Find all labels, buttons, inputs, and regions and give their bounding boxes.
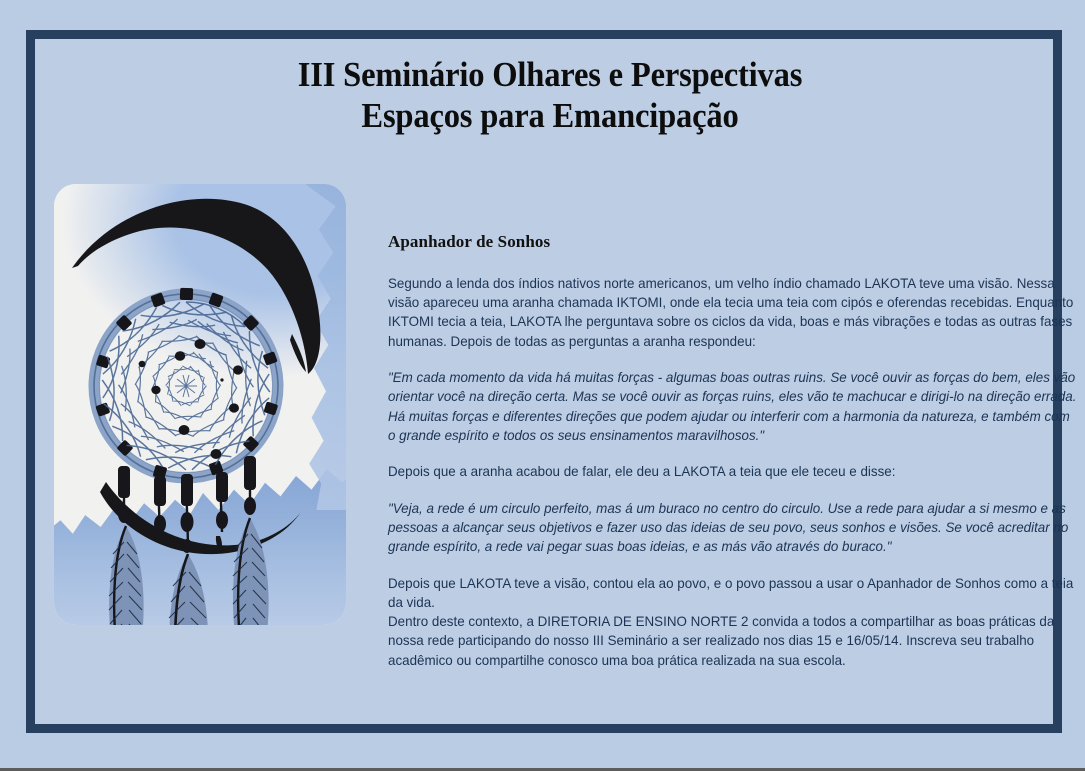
page-title: III Seminário Olhares e Perspectivas Esp…: [104, 54, 997, 136]
article-paragraph-6: Dentro deste contexto, a DIRETORIA DE EN…: [388, 612, 1078, 670]
poster-frame: III Seminário Olhares e Perspectivas Esp…: [26, 30, 1062, 733]
article-paragraph-3: Depois que a aranha acabou de falar, ele…: [388, 462, 1078, 481]
feather-right: [232, 518, 269, 625]
poster-canvas: III Seminário Olhares e Perspectivas Esp…: [0, 0, 1085, 771]
article-body: Apanhador de Sonhos Segundo a lenda dos …: [388, 232, 1085, 687]
article-paragraph-5: Depois que LAKOTA teve a visão, contou e…: [388, 574, 1078, 612]
article-paragraph-2-quote: "Em cada momento da vida há muitas força…: [388, 368, 1078, 446]
dreamcatcher-image-panel: [54, 184, 346, 625]
title-line-1: III Seminário Olhares e Perspectivas: [104, 54, 997, 95]
title-line-2: Espaços para Emancipação: [104, 95, 997, 136]
article-paragraph-1: Segundo a lenda dos índios nativos norte…: [388, 274, 1078, 351]
feather-left: [109, 526, 144, 625]
article-paragraph-4-quote: "Veja, a rede é um circulo perfeito, mas…: [388, 499, 1078, 557]
feather-center: [169, 554, 208, 625]
dreamcatcher-icon: [54, 184, 346, 625]
article-heading: Apanhador de Sonhos: [388, 232, 1085, 252]
